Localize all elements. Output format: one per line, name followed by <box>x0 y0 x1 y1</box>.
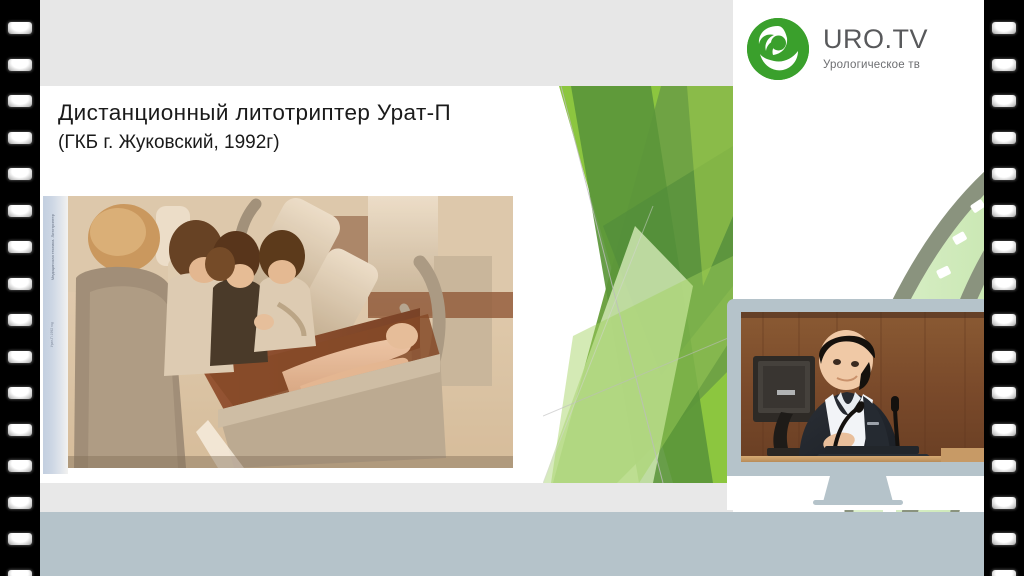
film-perforation <box>992 497 1016 509</box>
film-perforation <box>8 570 32 576</box>
slide-photo: Медицинская техника. Литотриптер Урат-П … <box>43 196 513 474</box>
film-perforation <box>992 387 1016 399</box>
monitor-stand <box>727 476 989 510</box>
film-perforation <box>992 95 1016 107</box>
film-perforation <box>992 22 1016 34</box>
speaker-video-panel[interactable] <box>727 299 989 476</box>
film-perforation <box>8 95 32 107</box>
top-grey-band <box>40 0 740 86</box>
film-perforation <box>8 351 32 363</box>
film-perforation <box>992 424 1016 436</box>
bottom-bar <box>40 512 984 576</box>
film-perforation <box>8 460 32 472</box>
film-perforation <box>8 533 32 545</box>
film-perforation <box>8 132 32 144</box>
uro-tv-logo[interactable]: URO.TV Урологическое тв <box>747 18 928 80</box>
slide-title-line1: Дистанционный литотриптер Урат-П <box>58 100 538 126</box>
film-strip-right <box>984 0 1024 576</box>
slide-title: Дистанционный литотриптер Урат-П (ГКБ г.… <box>58 100 538 154</box>
film-perforation <box>8 314 32 326</box>
speaker-video-frame[interactable] <box>741 312 993 462</box>
film-perforation <box>8 278 32 290</box>
film-perforation <box>992 132 1016 144</box>
film-perforation <box>992 351 1016 363</box>
film-perforation <box>992 278 1016 290</box>
scan-margin-text-1: Медицинская техника. Литотриптер <box>50 214 55 280</box>
film-perforation <box>992 460 1016 472</box>
film-strip-left <box>0 0 40 576</box>
film-perforation <box>8 497 32 509</box>
film-perforation <box>8 205 32 217</box>
film-perforation <box>992 205 1016 217</box>
lithotripter-photograph <box>68 196 513 468</box>
slide-theme-graphic <box>543 86 733 483</box>
film-perforation <box>992 570 1016 576</box>
film-perforation <box>8 241 32 253</box>
video-player-frame: URO.TV Урологическое тв <box>0 0 1024 576</box>
film-perforation <box>992 533 1016 545</box>
scan-margin-text-2: Урат-П 1992 год <box>50 322 54 347</box>
presentation-slide: Дистанционный литотриптер Урат-П (ГКБ г.… <box>40 86 733 483</box>
scan-margin: Медицинская техника. Литотриптер Урат-П … <box>43 196 68 474</box>
logo-subtitle: Урологическое тв <box>823 60 928 72</box>
film-perforation <box>992 59 1016 71</box>
film-perforation <box>8 22 32 34</box>
slide-title-line2: (ГКБ г. Жуковский, 1992г) <box>58 132 538 154</box>
film-perforation <box>992 168 1016 180</box>
film-perforation <box>8 424 32 436</box>
logo-title: URO.TV <box>823 26 928 53</box>
uro-tv-emblem-icon <box>747 18 809 80</box>
film-perforation <box>8 387 32 399</box>
film-perforation <box>8 59 32 71</box>
film-perforation <box>8 168 32 180</box>
film-perforation <box>992 241 1016 253</box>
film-perforation <box>992 314 1016 326</box>
